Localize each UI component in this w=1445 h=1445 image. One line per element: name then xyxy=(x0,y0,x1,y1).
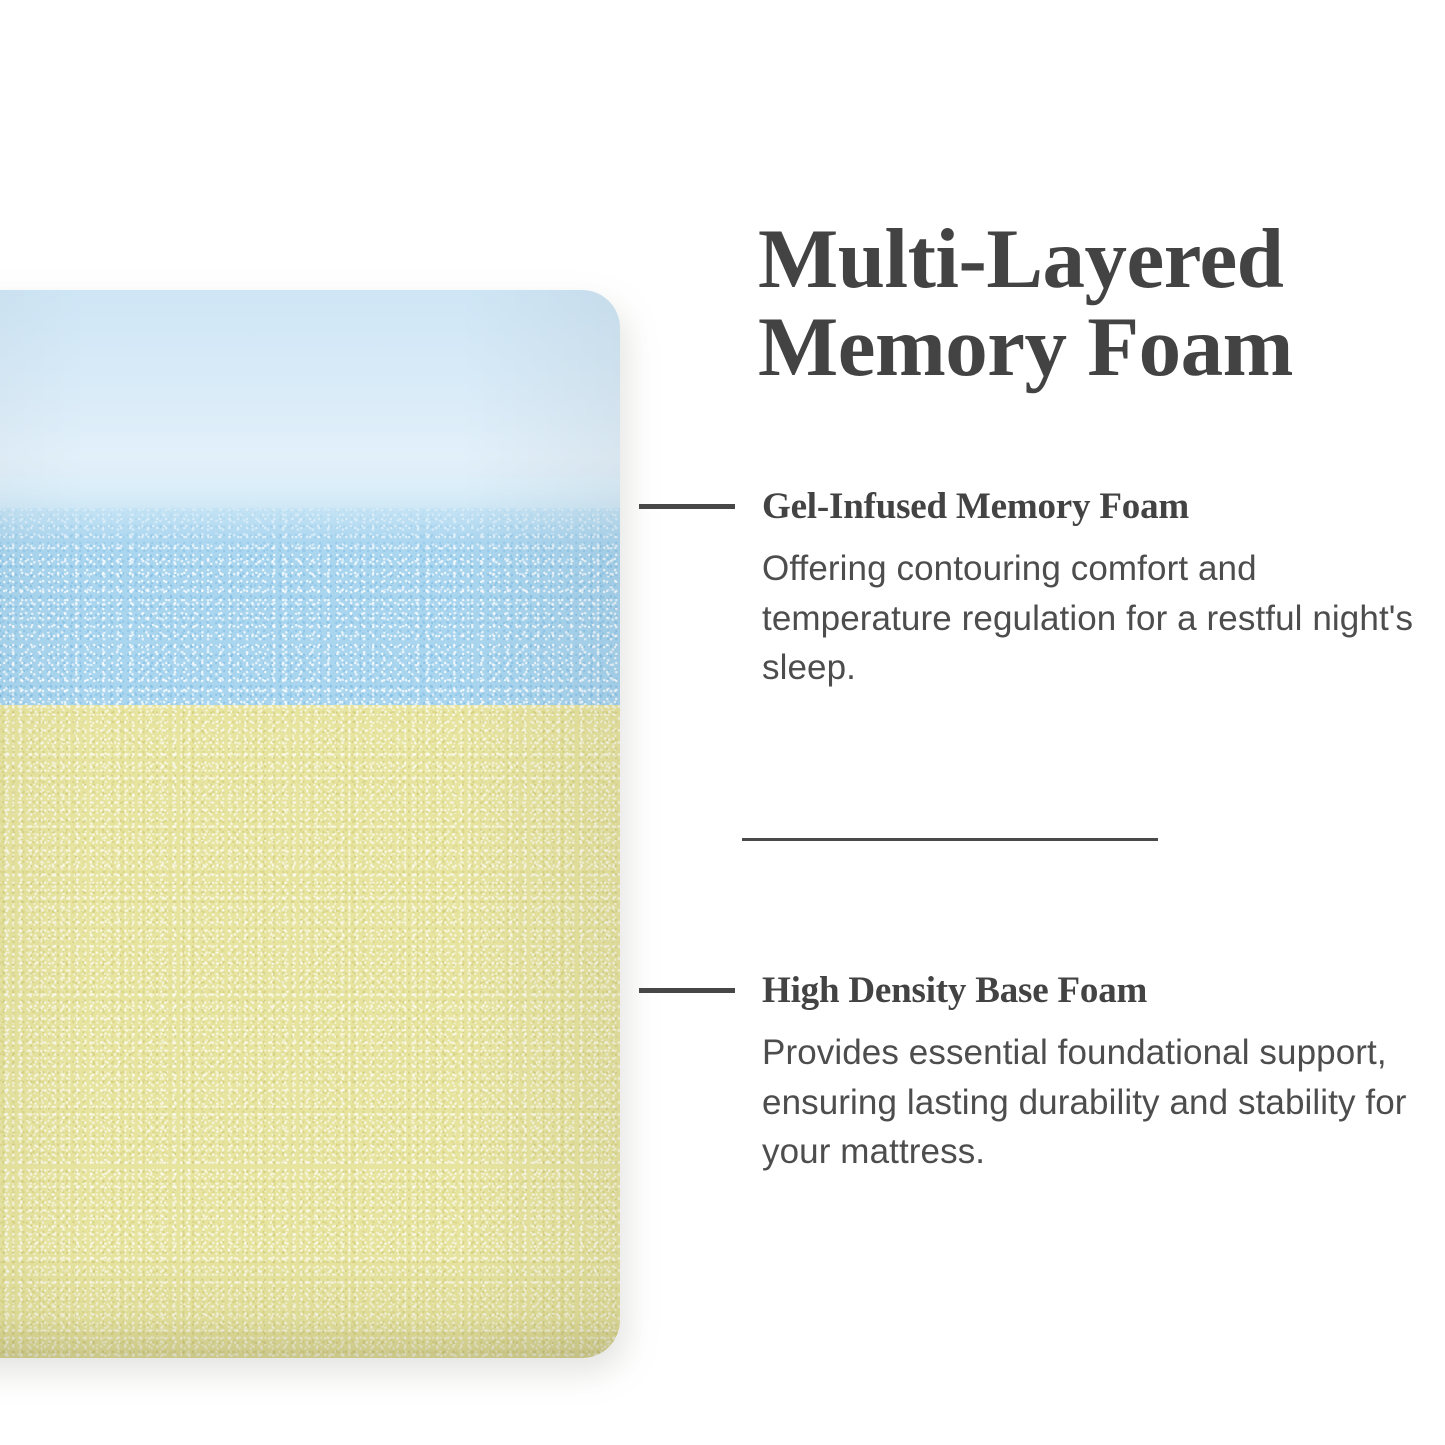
feature-title: High Density Base Foam xyxy=(762,972,1147,1009)
feature-gel-infused-memory-foam: Gel-Infused Memory Foam Offering contour… xyxy=(639,488,1429,728)
foam-layer-gel-infused xyxy=(0,508,620,708)
leader-dash-icon xyxy=(639,988,735,993)
leader-dash-icon xyxy=(639,504,735,509)
feature-high-density-base-foam: High Density Base Foam Provides essentia… xyxy=(639,972,1429,1212)
foam-layer-high-density-base xyxy=(0,705,620,1358)
foam-block-image xyxy=(0,290,620,1358)
infographic-canvas: Multi-Layered Memory Foam Gel-Infused Me… xyxy=(0,0,1445,1445)
feature-heading-row: High Density Base Foam xyxy=(639,972,1429,1009)
section-divider xyxy=(742,838,1158,841)
feature-heading-row: Gel-Infused Memory Foam xyxy=(639,488,1429,525)
feature-description: Provides essential foundational support,… xyxy=(762,1028,1422,1177)
feature-description: Offering contouring comfort and temperat… xyxy=(762,544,1422,693)
foam-layer-top-surface xyxy=(0,290,620,522)
feature-title: Gel-Infused Memory Foam xyxy=(762,488,1189,525)
page-title: Multi-Layered Memory Foam xyxy=(758,215,1398,392)
